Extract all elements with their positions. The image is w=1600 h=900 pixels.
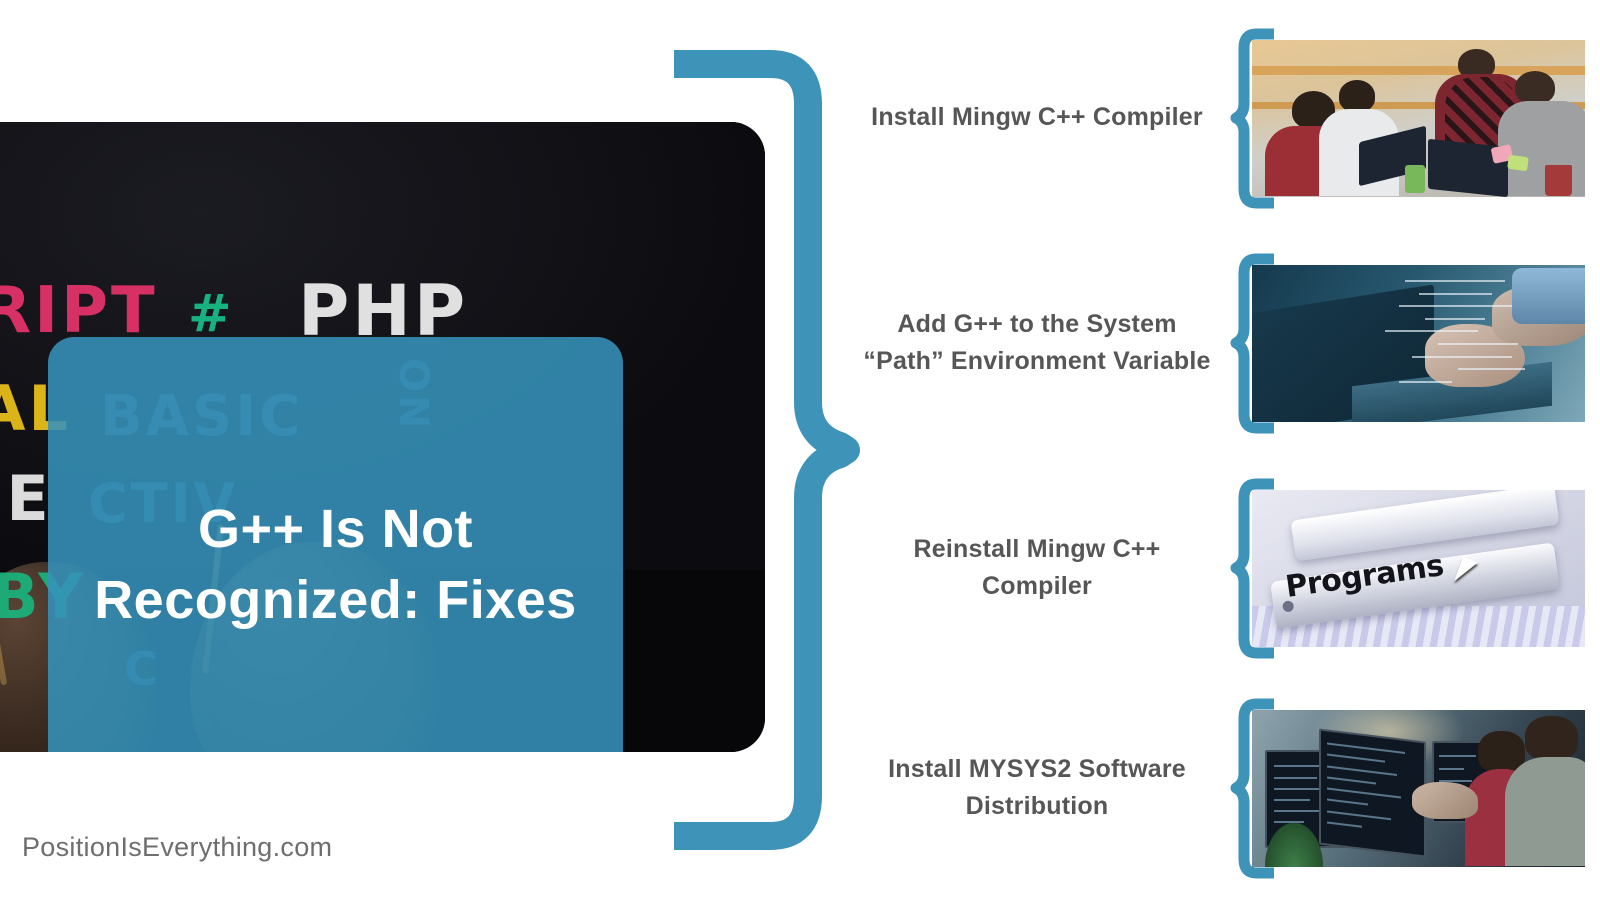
list-item[interactable]: Reinstall Mingw C++ Compiler Programs xyxy=(860,468,1600,668)
step-label: Install MYSYS2 Software Distribution xyxy=(860,751,1230,826)
thumbnail-developers-monitors xyxy=(1252,710,1585,867)
thumbnail-office-team xyxy=(1252,40,1585,197)
site-watermark: PositionIsEverything.com xyxy=(22,832,332,863)
large-right-brace-icon xyxy=(660,50,860,850)
list-item[interactable]: Install Mingw C++ Compiler xyxy=(860,18,1600,218)
step-label: Reinstall Mingw C++ Compiler xyxy=(860,531,1230,606)
list-item[interactable]: Add G++ to the System “Path” Environment… xyxy=(860,243,1600,443)
step-thumbnail-wrap xyxy=(1230,251,1585,436)
thumbnail-hands-typing-code xyxy=(1252,265,1585,422)
step-thumbnail-wrap xyxy=(1230,26,1585,211)
step-thumbnail-wrap xyxy=(1230,696,1585,881)
page-title: G++ Is Not Recognized: Fixes xyxy=(92,494,579,634)
step-label: Install Mingw C++ Compiler xyxy=(860,99,1230,137)
step-thumbnail-wrap: Programs xyxy=(1230,476,1585,661)
list-item[interactable]: Install MYSYS2 Software Distribution xyxy=(860,688,1600,888)
hero-card: CRIPT # PHP UAL BASIC BJE CTIV ON UBY C … xyxy=(0,122,765,752)
step-label: Add G++ to the System “Path” Environment… xyxy=(860,306,1230,381)
chalk-word-hash: # xyxy=(188,284,235,344)
title-overlay-card: G++ Is Not Recognized: Fixes xyxy=(48,337,623,752)
chalk-word-bje: BJE xyxy=(0,462,52,535)
thumbnail-programs-button: Programs xyxy=(1252,490,1585,647)
steps-list: Install Mingw C++ Compiler xyxy=(860,0,1600,900)
